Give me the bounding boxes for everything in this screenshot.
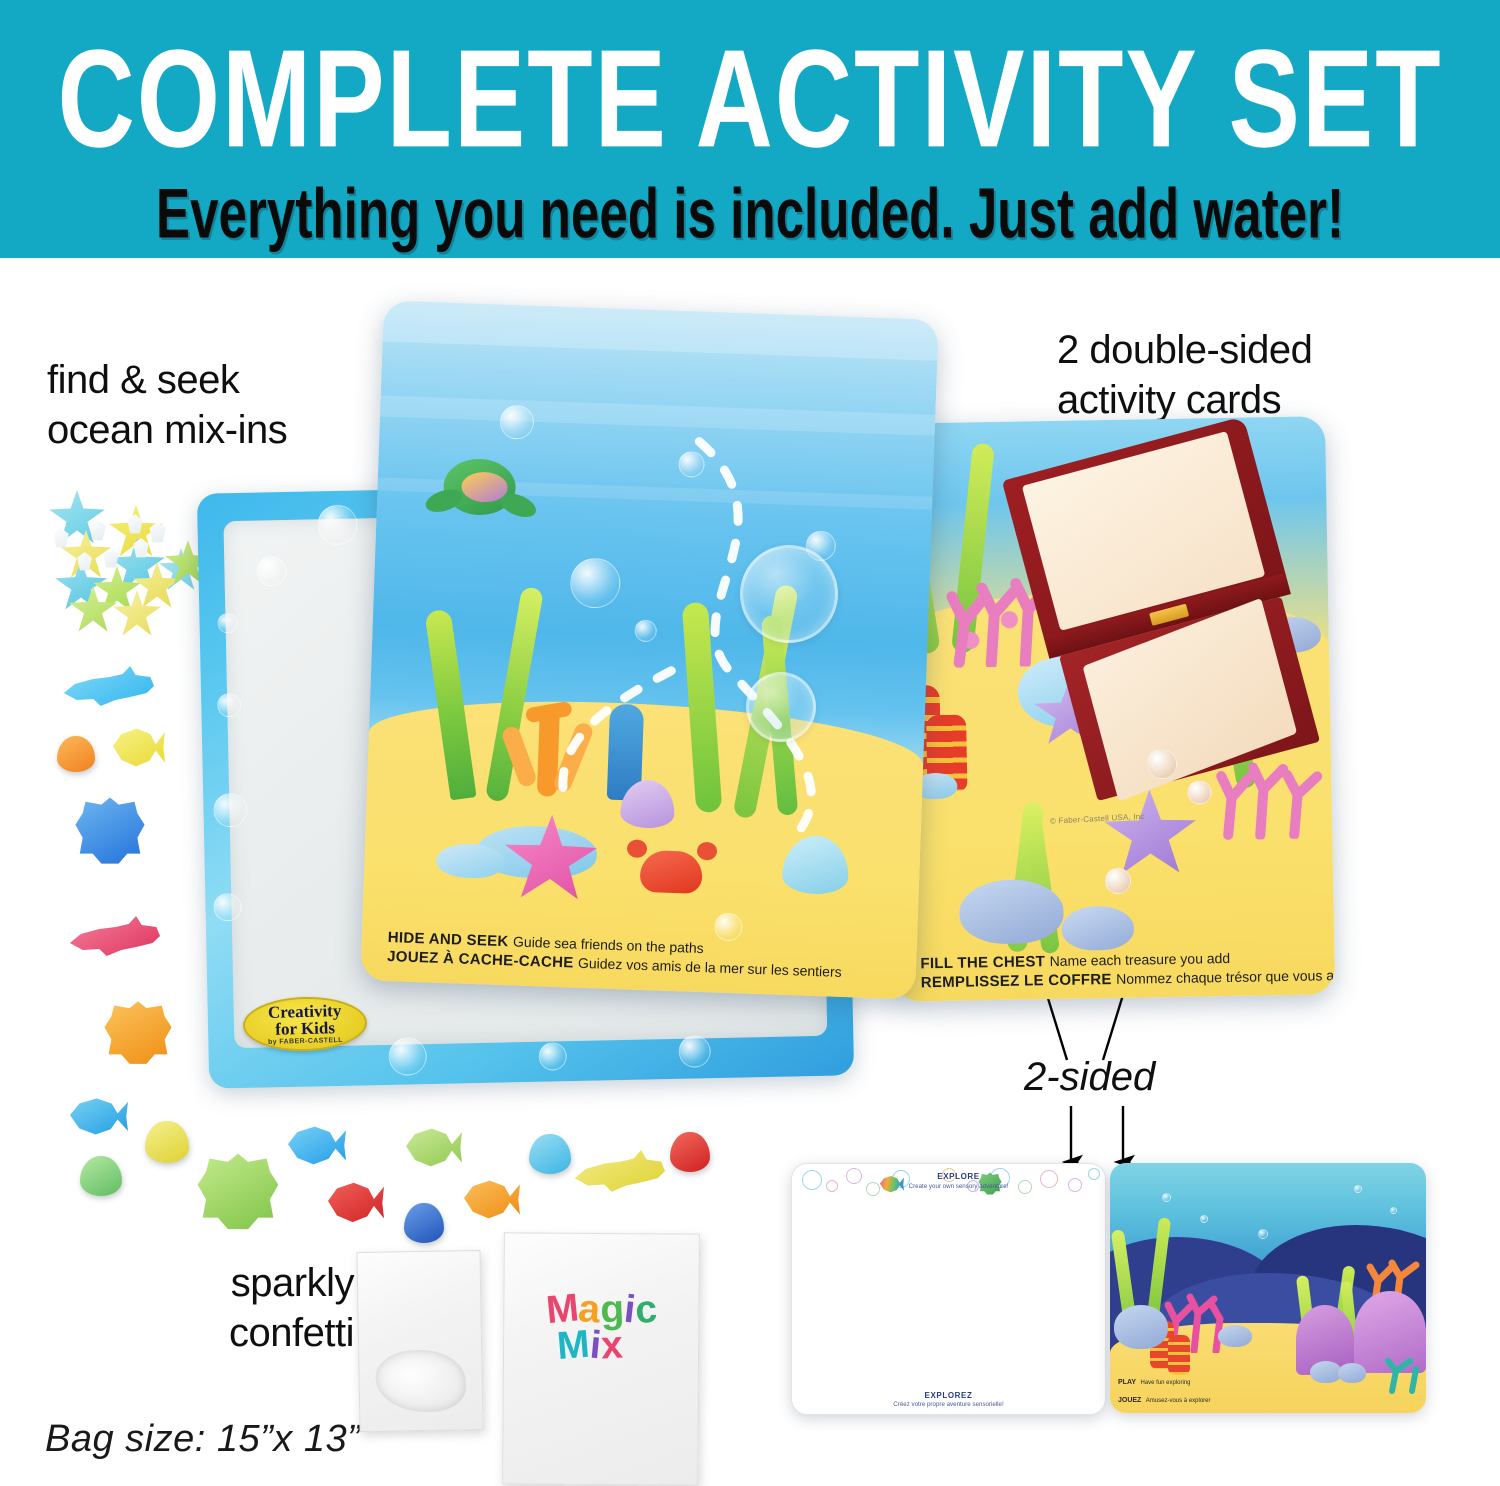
bubble-icon [499,405,534,440]
play-desc-fr: Amusez-vous à explorer [1146,1398,1211,1404]
bubble-icon [1258,1229,1268,1239]
mixin-fish [328,1178,384,1226]
mixin-turtle [196,1152,280,1234]
magic-mix-letter: x [600,1327,623,1364]
mixin-fish [113,724,165,770]
mixin-fish [288,1122,346,1168]
mixin-fish [406,1124,462,1170]
page-subtitle: Everything you need is included. Just ad… [53,176,1448,250]
mixin-shell [80,1156,122,1196]
explore-desc-en: Create your own sensory adventure! [892,1183,1025,1190]
bubble-icon [538,1042,567,1071]
page-title: COMPLETE ACTIVITY SET [45,28,1455,172]
mixin-shell [529,1134,571,1174]
play-title-en: PLAY [1118,1379,1136,1386]
caption-title-en: HIDE AND SEEK [388,929,509,950]
doodle-icon [826,1180,838,1192]
caption-desc-en: Name each treasure you add [1049,950,1230,969]
doodle-icon [802,1170,822,1190]
magic-mix-pouch[interactable]: Magic Mix [502,1232,700,1485]
explore-desc-fr: Créez votre propre aventure sensorielle! [792,1401,1105,1408]
caption-title-en: FILL THE CHEST [920,953,1045,972]
activity-card-play[interactable]: PLAY Have fun exploring JOUEZ Amusez-vou… [1110,1163,1426,1413]
bubble-icon [1354,1185,1362,1193]
mixin-turtle [103,1000,173,1068]
label-bag-size: Bag size: 15”x 13” [45,1418,360,1461]
bubble-icon [1162,1193,1171,1202]
magic-mix-row-1: Magic [504,1291,698,1328]
label-find-and-seek-mixins: find & seek ocean mix-ins [47,355,287,455]
confetti-pouch[interactable] [356,1250,483,1432]
bubble-icon [1390,1207,1397,1214]
doodle-icon [1088,1168,1100,1180]
label-activity-cards: 2 double-sided activity cards [1057,325,1312,425]
mixin-shell [57,736,95,772]
mixin-dolphin [573,1146,665,1198]
bubble-icon [1200,1215,1208,1223]
mixin-turtle [74,796,146,868]
bubble-icon [678,1035,711,1068]
mixin-shell [145,1121,189,1163]
sponge-icon [1168,1335,1190,1375]
doodle-icon [866,1182,880,1196]
magnifier-lens [746,672,816,742]
mixin-fish [464,1176,520,1222]
rock-icon [1218,1325,1252,1347]
header-banner: COMPLETE ACTIVITY SET Everything you nee… [0,0,1500,258]
brand-line-3: by FABER-CASTELL [268,1037,343,1046]
caption-desc-fr: Nommez chaque trésor que vous ajoutez [1116,966,1335,986]
mixin-shell [404,1203,444,1243]
mixin-dolphin [68,912,160,962]
doodle-icon [846,1168,862,1184]
caption-title-fr: REMPLISSEZ LE COFFRE [921,971,1112,991]
rock-icon [959,879,1064,945]
bubble-icon [634,619,657,642]
bubble-icon [569,557,621,609]
magic-mix-letter: M [556,1326,591,1364]
doodle-icon [1068,1178,1082,1192]
play-caption: PLAY Have fun exploring JOUEZ Amusez-vou… [1118,1371,1211,1407]
coral-icon [1382,1349,1426,1395]
magic-mix-letter: c [634,1292,658,1329]
magnifier-lens [740,545,838,643]
mixin-dolphin [62,662,154,712]
bubble-icon [678,451,705,478]
card-caption-fill-the-chest: FILL THE CHEST Name each treasure you ad… [894,940,1335,1002]
explore-title-fr: EXPLOREZ [792,1391,1105,1400]
doodle-icon [1040,1170,1058,1188]
mixin-shell [670,1132,710,1172]
activity-card-fill-the-chest[interactable]: © Faber-Castell USA, Inc FILL THE CHEST … [885,416,1335,1002]
play-title-fr: JOUEZ [1118,1397,1141,1404]
rock-icon [1338,1363,1366,1383]
magic-mix-logo: Magic Mix [504,1291,698,1364]
confetti-contents [375,1349,466,1413]
rock-icon [1114,1305,1168,1349]
activity-card-explore[interactable]: EXPLORE Create your own sensory adventur… [791,1163,1106,1415]
magic-mix-row-2: Mix [482,1327,698,1364]
explore-title-en: EXPLORE [892,1172,1025,1181]
brand-line-2: for Kids [275,1019,335,1038]
play-desc-en: Have fun exploring [1140,1380,1190,1386]
activity-card-hide-and-seek[interactable]: HIDE AND SEEK Guide sea friends on the p… [360,301,938,1000]
mixin-fish [70,1094,128,1138]
label-sparkly-confetti: sparkly confetti [186,1258,354,1358]
